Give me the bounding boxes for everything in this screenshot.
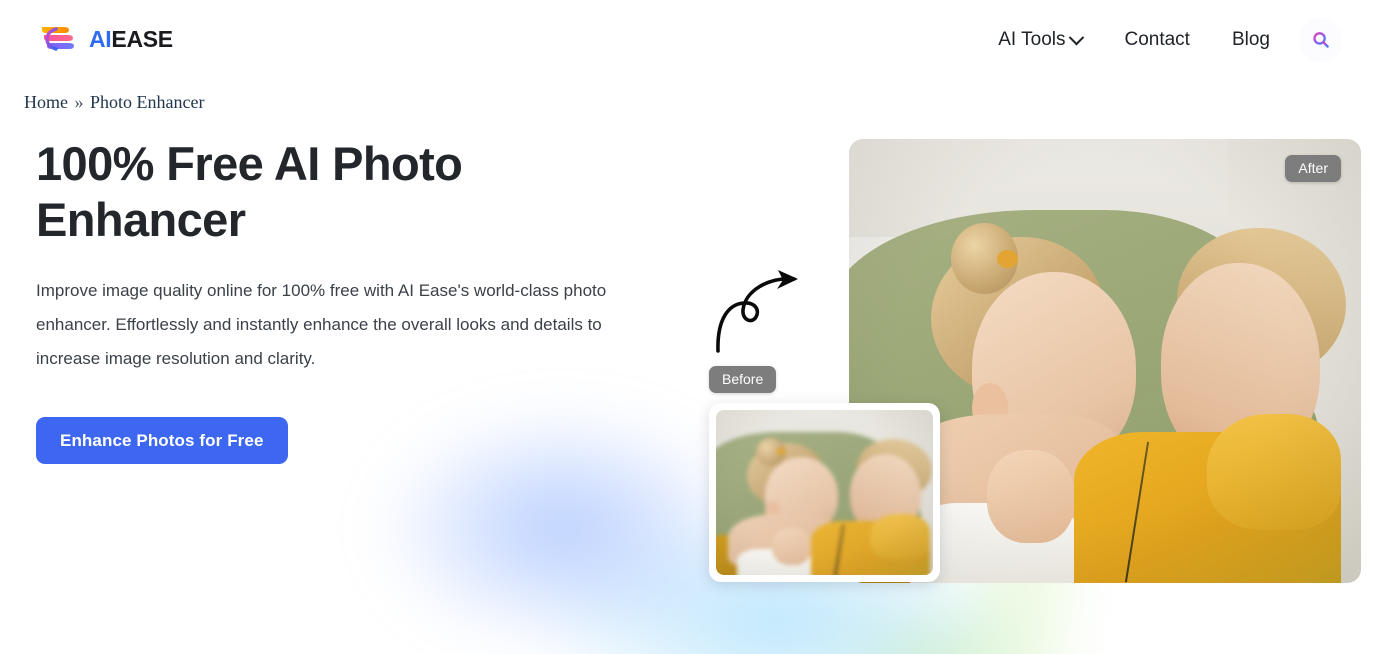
aiease-wing-logo-icon [38,22,80,56]
nav-item-blog[interactable]: Blog [1211,21,1291,59]
page-title: 100% Free AI Photo Enhancer [36,136,596,248]
photo-scene-before [716,410,933,575]
chevron-down-icon [1069,29,1085,45]
before-image-frame [716,410,933,575]
nav-item-ai-tools[interactable]: AI Tools [977,21,1103,59]
logo-word-ease: EASE [111,26,172,52]
logo-word-ai: AI [89,26,111,52]
before-photo-content [716,410,933,575]
search-button[interactable] [1299,18,1343,62]
nav-label-blog: Blog [1232,29,1270,51]
hero-description: Improve image quality online for 100% fr… [36,274,661,376]
nav-label-contact: Contact [1124,29,1189,51]
after-badge: After [1285,155,1341,182]
search-icon [1311,30,1331,50]
logo-wordmark: AIEASE [89,28,173,51]
curly-arrow-icon [706,256,821,356]
site-header: AIEASE AI Tools Contact Blog [0,0,1385,78]
page-root: AIEASE AI Tools Contact Blog [0,0,1385,654]
main-navigation: AI Tools Contact Blog [977,18,1343,62]
before-badge: Before [709,366,776,393]
logo[interactable]: AIEASE [38,22,173,56]
breadcrumb-item-home[interactable]: Home [24,92,68,112]
breadcrumb: Home » Photo Enhancer [24,92,204,113]
enhance-photos-button[interactable]: Enhance Photos for Free [36,417,288,464]
breadcrumb-separator: » [73,92,86,112]
before-image[interactable] [709,403,940,582]
breadcrumb-item-current: Photo Enhancer [90,92,204,112]
nav-label-ai-tools: AI Tools [998,29,1065,51]
nav-item-contact[interactable]: Contact [1103,21,1210,59]
